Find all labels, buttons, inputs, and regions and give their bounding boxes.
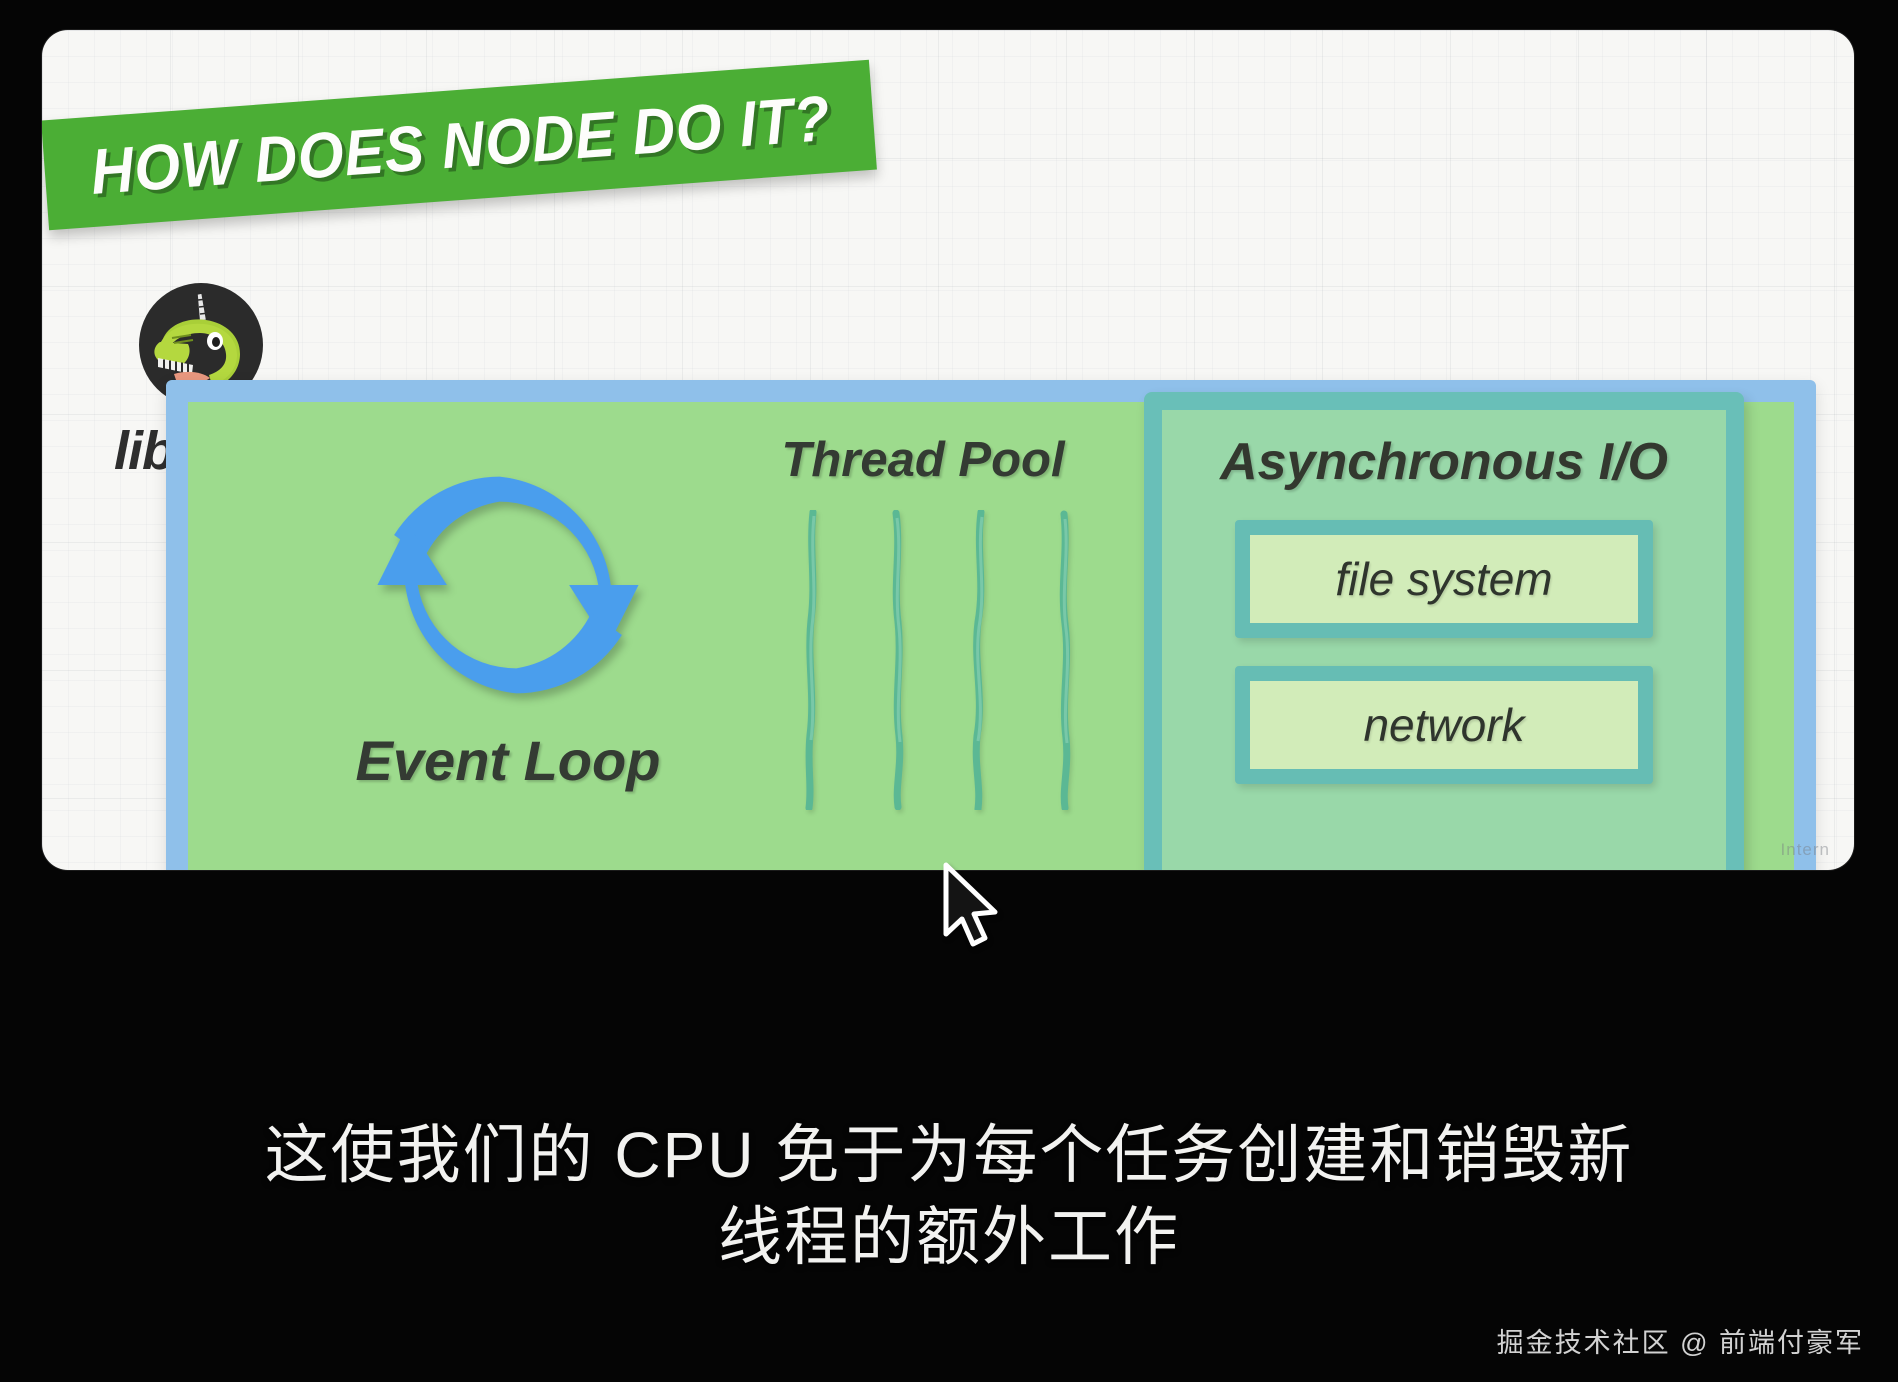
subtitle-block: 这使我们的 CPU 免于为每个任务创建和销毁新 线程的额外工作: [0, 1115, 1898, 1279]
async-io-item-label: file system: [1335, 552, 1552, 606]
channel-watermark: 掘金技术社区 @ 前端付豪军: [1497, 1321, 1864, 1360]
thread-pool-group: Thread Pool: [708, 432, 1138, 810]
libuv-frame: Event Loop Thread Pool: [166, 380, 1816, 870]
async-io-box: Asynchronous I/O file system network: [1144, 392, 1744, 870]
slide-corner-mark: Intern: [1781, 840, 1830, 860]
screen-root: HOW DOES NODE DO IT?: [0, 0, 1898, 1382]
video-slide-panel[interactable]: HOW DOES NODE DO IT?: [42, 30, 1854, 870]
async-io-item-file-system: file system: [1235, 520, 1653, 638]
circular-arrows-loop-icon: [368, 460, 648, 710]
thread-pool-label: Thread Pool: [708, 432, 1138, 488]
thread-line: [884, 510, 910, 810]
async-io-item-network: network: [1235, 666, 1653, 784]
event-loop-label: Event Loop: [348, 728, 668, 793]
mouse-pointer-arrow-icon: [940, 862, 1002, 948]
event-loop-group: Event Loop: [348, 460, 668, 793]
thread-line: [968, 510, 994, 810]
thread-line: [1052, 510, 1078, 810]
subtitle-line-2: 线程的额外工作: [0, 1197, 1898, 1279]
async-io-item-label: network: [1363, 698, 1524, 752]
subtitle-line-1: 这使我们的 CPU 免于为每个任务创建和销毁新: [0, 1115, 1898, 1197]
async-io-title: Asynchronous I/O: [1162, 432, 1726, 492]
thread-line: [800, 510, 826, 810]
thread-squiggles: [708, 510, 1138, 810]
